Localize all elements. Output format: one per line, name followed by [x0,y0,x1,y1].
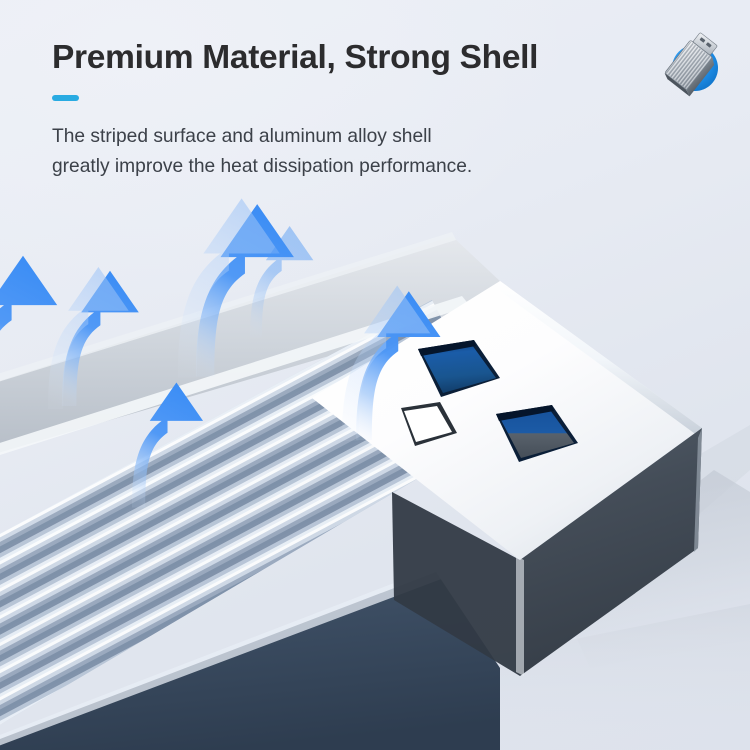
usb-flash-drive-icon [655,28,727,100]
subtitle-text: The striped surface and aluminum alloy s… [52,122,472,182]
heat-dissipation-arrows [0,0,750,750]
page-title: Premium Material, Strong Shell [52,38,538,78]
arrow-4 [132,382,203,507]
marketing-banner: Premium Material, Strong Shell The strip… [0,0,750,750]
accent-divider [52,95,79,101]
